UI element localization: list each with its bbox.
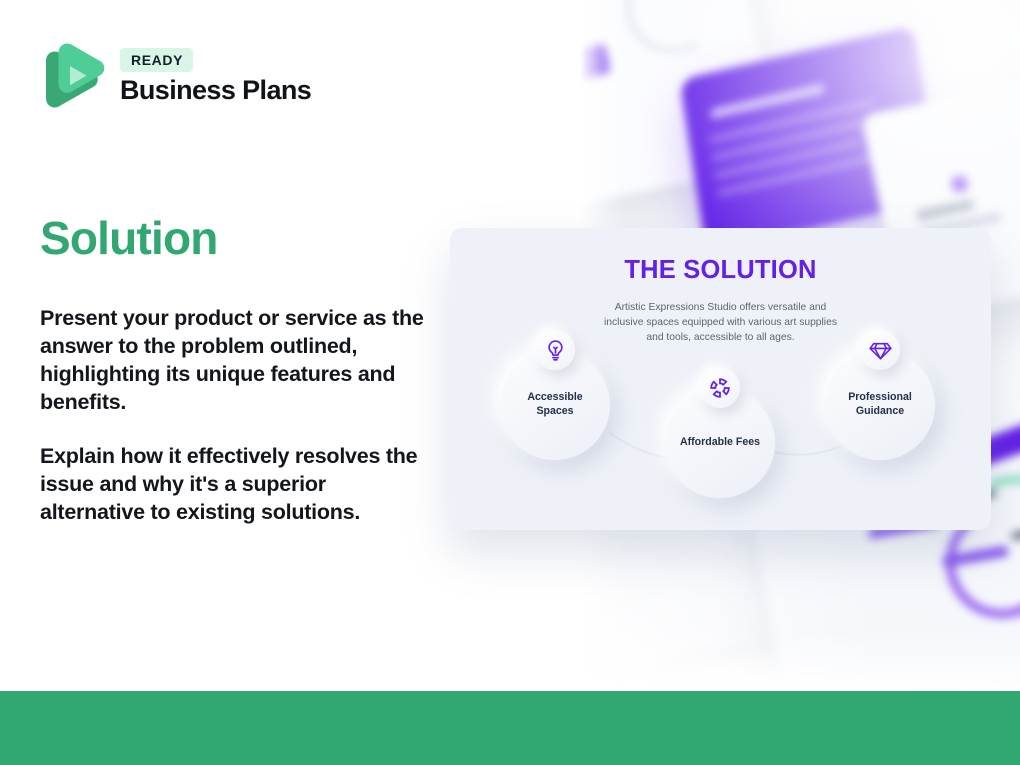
lightbulb-icon bbox=[535, 330, 575, 370]
mockup-dot bbox=[950, 174, 970, 194]
feature-label: Accessible Spaces bbox=[500, 391, 610, 418]
feature-node-professional-guidance[interactable]: Professional Guidance bbox=[825, 350, 935, 460]
hero-bottom-fade bbox=[580, 631, 1020, 691]
brand-logo[interactable]: READY Business Plans bbox=[40, 40, 311, 112]
body-paragraph-1: Present your product or service as the a… bbox=[40, 305, 432, 417]
page-title: Solution bbox=[40, 215, 218, 261]
body-copy: Present your product or service as the a… bbox=[40, 305, 432, 527]
feature-node-affordable-fees[interactable]: Affordable Fees bbox=[665, 388, 775, 498]
slide-canvas: READY Business Plans Solution Present yo… bbox=[0, 0, 1020, 765]
mockup-ring-shape bbox=[616, 0, 729, 62]
brand-name: Business Plans bbox=[120, 76, 311, 104]
footer-bar bbox=[0, 691, 1020, 765]
play-triangle-logo-icon bbox=[40, 40, 106, 112]
body-paragraph-2: Explain how it effectively resolves the … bbox=[40, 443, 432, 527]
diamond-icon bbox=[860, 330, 900, 370]
ready-badge: READY bbox=[120, 48, 193, 72]
lifebuoy-icon bbox=[700, 368, 740, 408]
brand-text-block: READY Business Plans bbox=[120, 48, 311, 104]
feature-node-accessible-spaces[interactable]: Accessible Spaces bbox=[500, 350, 610, 460]
feature-label: Affordable Fees bbox=[672, 436, 768, 450]
solution-preview-card[interactable]: THE SOLUTION Artistic Expressions Studio… bbox=[450, 228, 991, 530]
mockup-bar bbox=[916, 199, 975, 221]
feature-label: Professional Guidance bbox=[825, 391, 935, 418]
